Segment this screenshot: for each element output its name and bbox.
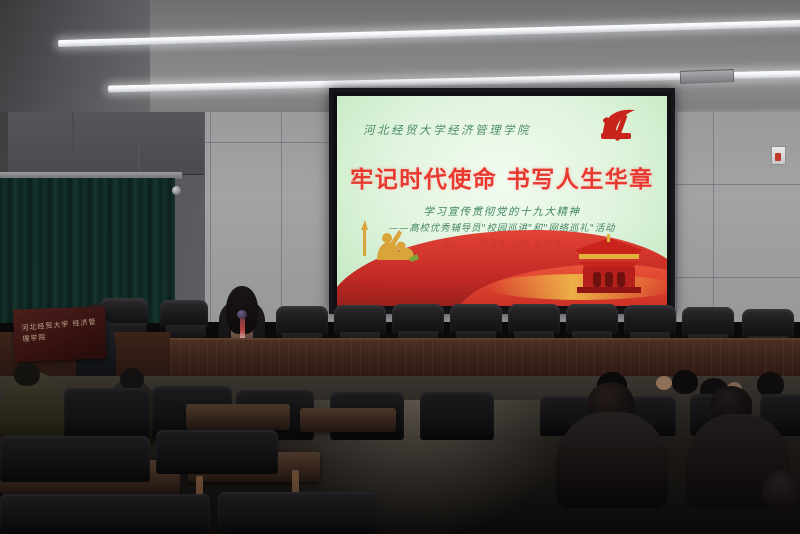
audience-seat [0, 436, 150, 482]
slide-organization-text: 河北经贸大学经济管理学院 [363, 122, 531, 138]
audience-head [672, 370, 698, 394]
stage-chair [450, 304, 502, 334]
curtain-knob [172, 186, 181, 195]
wall-panel [8, 112, 72, 175]
cpc-hammer-sickle-emblem [595, 104, 647, 150]
stage-chair [392, 304, 444, 334]
stage-chair [276, 306, 328, 336]
auditorium-photograph: 河北经贸大学经济管理学院 牢记时代使命 书写人生华章 学习宣传贯彻党的十九大精神… [0, 0, 800, 534]
stage-chair [742, 309, 794, 339]
audience-seat [156, 430, 278, 474]
audience-seat [0, 494, 210, 534]
monument-relief-artwork [351, 216, 439, 272]
ceiling-vent [680, 69, 734, 84]
stage-chair [160, 300, 208, 328]
wall-seam [660, 277, 800, 278]
stage-chair [624, 305, 676, 335]
presentation-slide: 河北经贸大学经济管理学院 牢记时代使命 书写人生华章 学习宣传贯彻党的十九大精神… [337, 96, 667, 306]
ceiling-light-strip-1 [58, 20, 800, 47]
audience-desk [186, 404, 290, 430]
ceiling-shadow-left [0, 0, 150, 118]
projection-screen: 河北经贸大学经济管理学院 牢记时代使命 书写人生华章 学习宣传贯彻党的十九大精神… [329, 88, 675, 314]
audience-head [14, 362, 40, 386]
wall-panel [74, 112, 138, 175]
slide-main-title: 牢记时代使命 书写人生华章 [337, 160, 667, 194]
stage-chair [566, 304, 618, 334]
wall-seam [281, 112, 282, 322]
audience-head [762, 470, 800, 510]
audience-seat [64, 388, 150, 442]
window-curtain [0, 178, 175, 323]
alarm-indicator-icon [775, 153, 781, 161]
audience-desk [300, 408, 396, 432]
audience-head [120, 368, 144, 390]
stage-chair [682, 307, 734, 337]
tiananmen-gate-artwork [563, 234, 655, 298]
wall-seam [210, 112, 211, 322]
microphone-head [237, 310, 247, 319]
audience-seat [420, 392, 494, 440]
audience-person-foreground [556, 412, 668, 508]
wall-seam [713, 112, 714, 322]
wall-panel [140, 112, 204, 175]
wall-seam [200, 142, 340, 143]
emergency-switch-plate[interactable] [771, 146, 786, 165]
department-banner: 河北经贸大学 经济管理学院 [13, 306, 107, 361]
department-banner-text: 河北经贸大学 经济管理学院 [21, 317, 101, 346]
audience-seat [218, 492, 378, 534]
stage-chair [334, 305, 386, 335]
audience-face [656, 376, 672, 390]
wall-seam [660, 184, 800, 185]
wall-seam [676, 112, 677, 322]
stage-chair [508, 304, 560, 334]
